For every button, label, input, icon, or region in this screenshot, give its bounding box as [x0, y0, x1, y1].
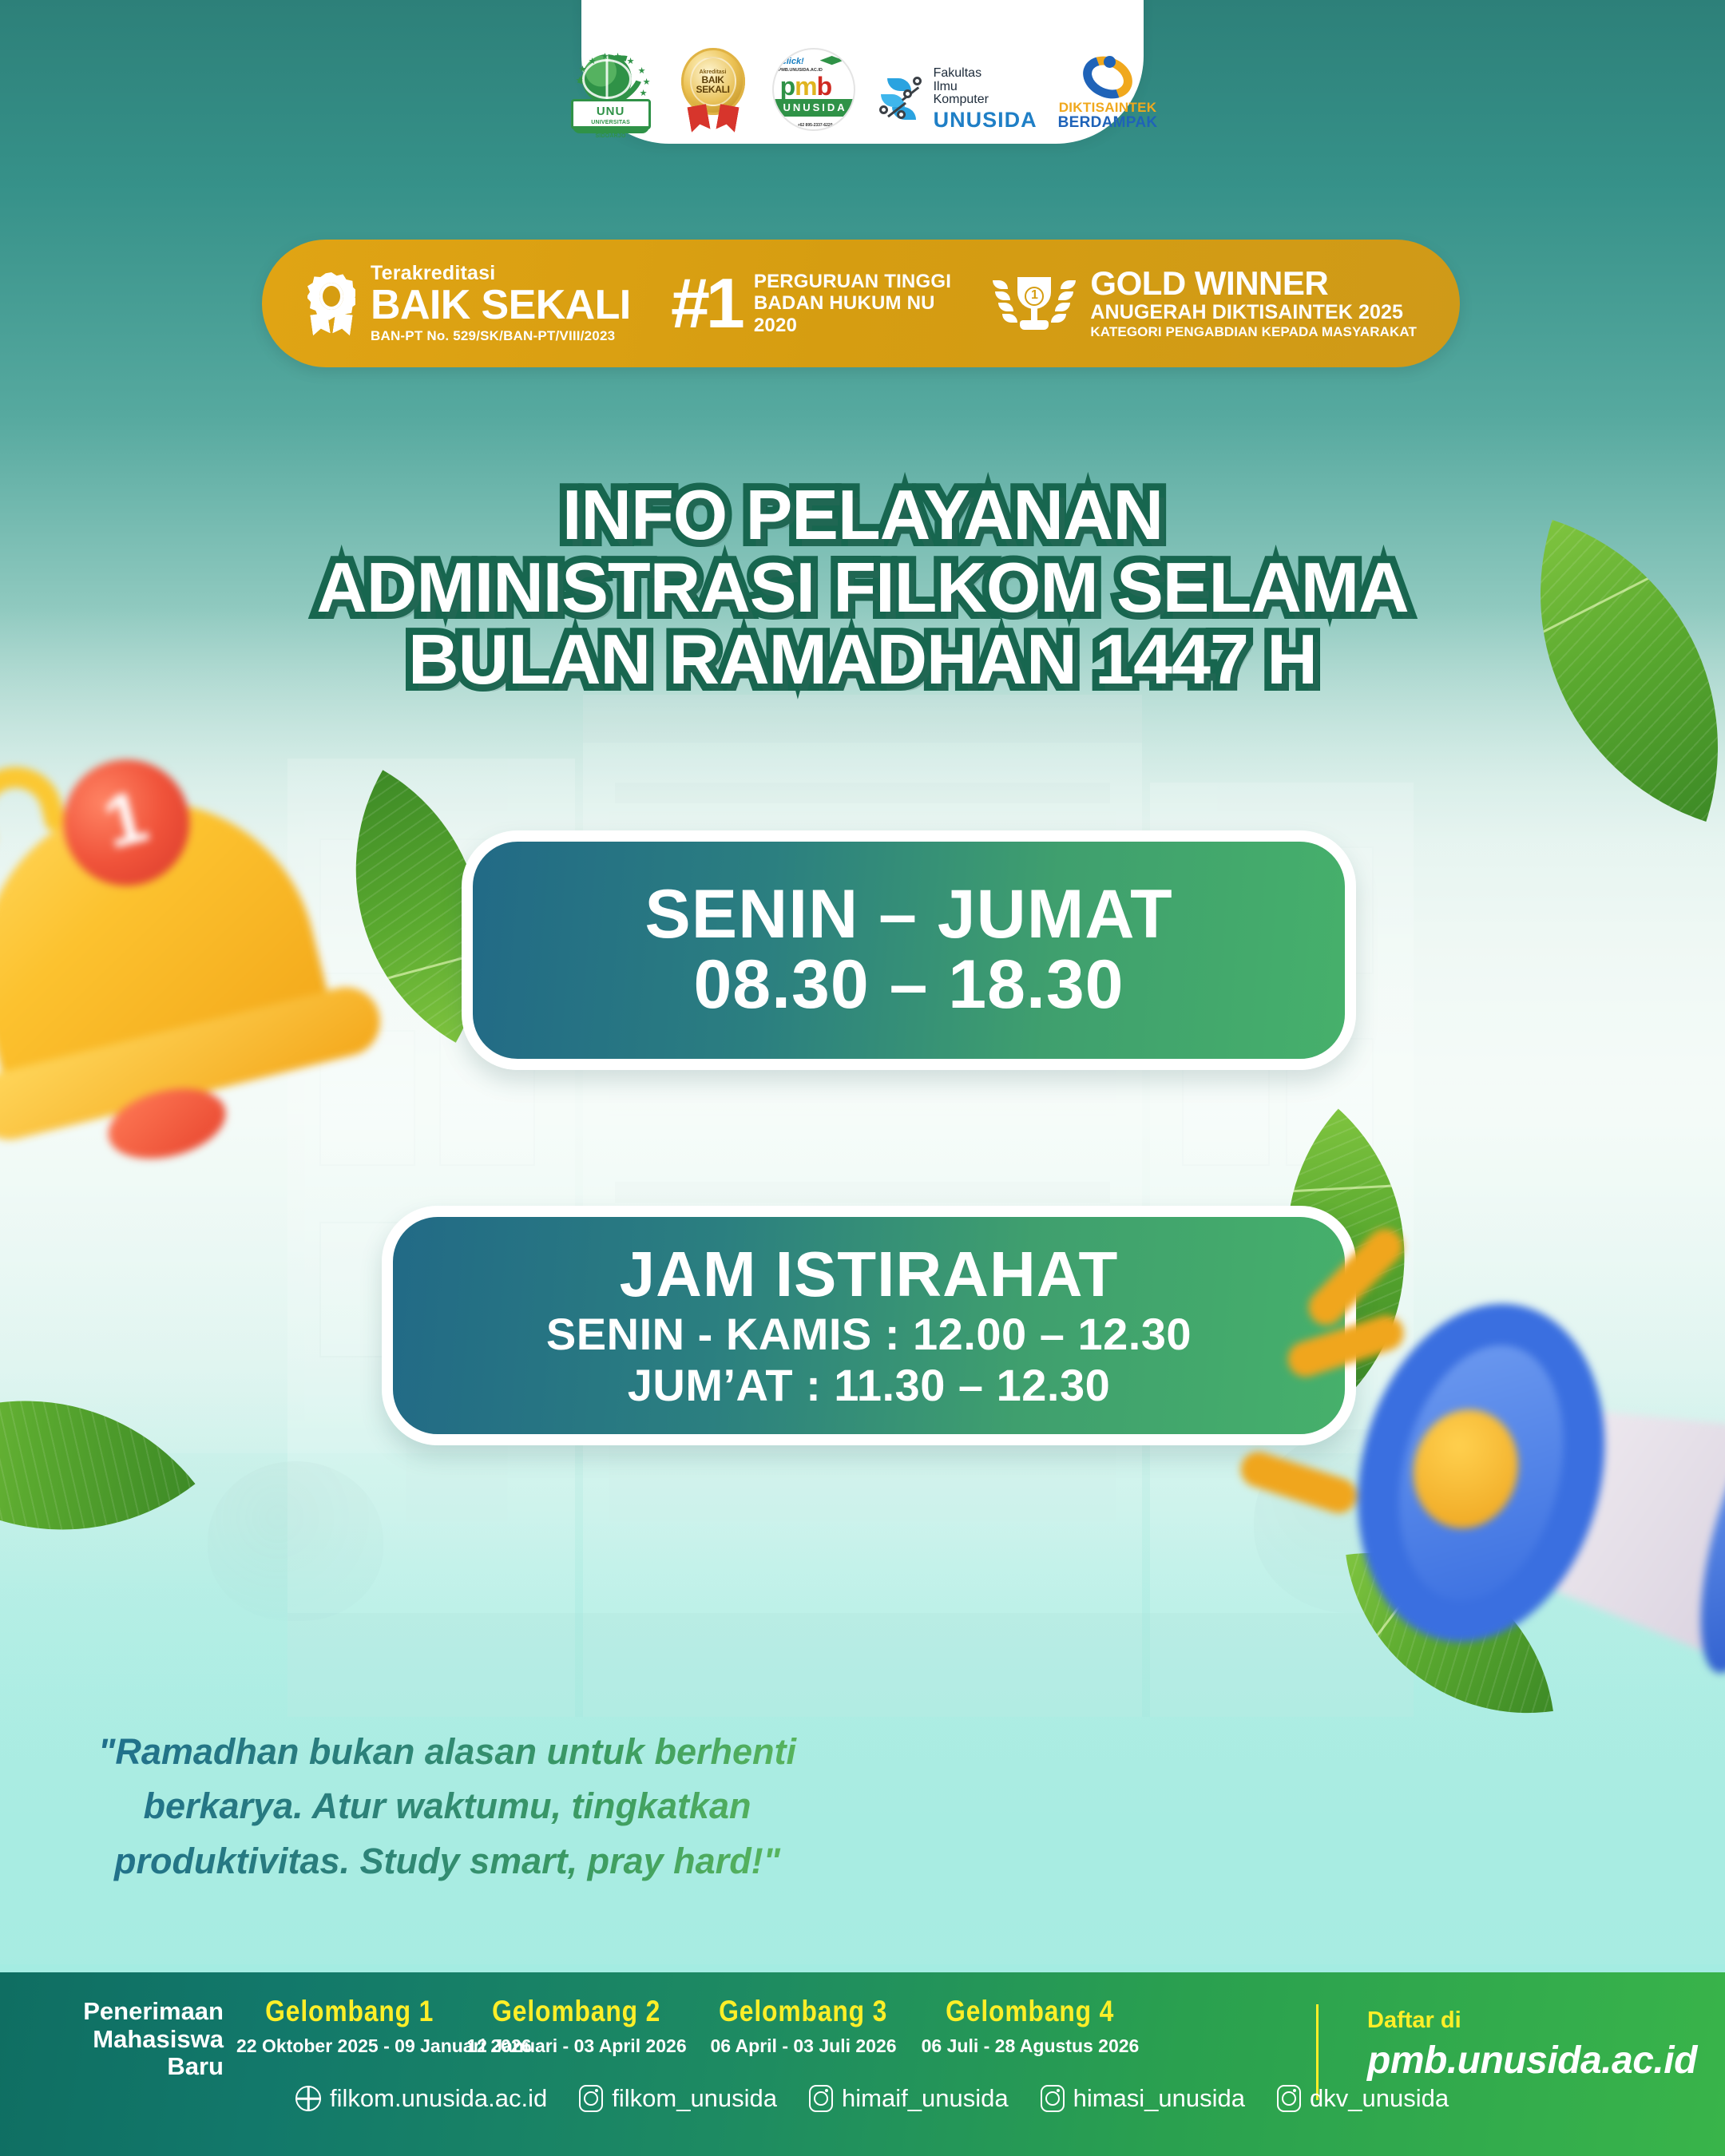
social-handle: filkom_unusida	[612, 2084, 777, 2113]
instagram-icon	[1041, 2085, 1065, 2112]
break-hours-line-1: SENIN - KAMIS : 12.00 – 12.30	[393, 1309, 1345, 1360]
logo-pmb: click! PMB.UNUSIDA.AC.ID pmb PENERIMAAN …	[772, 48, 855, 131]
accreditation-grade: BAIK SEKALI	[371, 284, 631, 326]
filkom-circuit-icon	[876, 75, 927, 123]
unu-city-name: SIDOARJO	[573, 133, 648, 141]
motivational-quote: "Ramadhan bukan alasan untuk berhenti be…	[88, 1725, 807, 1888]
headline-line-2: ADMINISTRASI FILKOM SELAMA	[0, 552, 1725, 624]
headline-line-1: INFO PELAYANAN	[0, 479, 1725, 552]
wave-item: Gelombang 2 12 Januari - 03 April 2026	[463, 1995, 690, 2057]
social-handle: himaif_unusida	[842, 2084, 1009, 2113]
page-title: INFO PELAYANAN ADMINISTRASI FILKOM SELAM…	[0, 479, 1725, 696]
trophy-icon	[991, 269, 1077, 338]
service-hours-card: SENIN – JUMAT 08.30 – 18.30	[462, 830, 1356, 1070]
accreditation-seal-icon	[305, 272, 358, 335]
leaf-decoration-lower-left	[0, 1314, 195, 1617]
registration-url[interactable]: pmb.unusida.ac.id	[1367, 2039, 1697, 2083]
instagram-icon	[1277, 2085, 1301, 2112]
break-hours-line-2: JUM’AT : 11.30 – 12.30	[393, 1360, 1345, 1411]
wave-dates: 22 Oktober 2025 - 09 Januari 2026	[236, 2035, 463, 2057]
wave-item: Gelombang 4 06 Juli - 28 Agustus 2026	[917, 1995, 1144, 2057]
registration-label: Daftar di	[1367, 2007, 1697, 2034]
notification-bell-icon: 1	[0, 665, 486, 1219]
footer-pmb-title: Penerimaan Mahasiswa Baru	[32, 1998, 224, 2081]
headline-line-3: BULAN RAMADHAN 1447 H	[0, 624, 1725, 696]
poster-canvas: ★★ ★★ ★★ ★★ ★ UNU UNIVERSITAS NAHDLATUL …	[0, 0, 1725, 2156]
rank-line-2: BADAN HUKUM NU	[754, 292, 951, 314]
filkom-line-2: Ilmu	[934, 81, 1037, 94]
logo-akreditasi-medal: Akreditasi BAIK SEKALI	[675, 48, 751, 131]
wave-dates: 06 Juli - 28 Agustus 2026	[917, 2035, 1144, 2057]
pmb-click-label: click!	[782, 57, 804, 66]
rank-number: #1	[671, 275, 741, 332]
graduation-cap-icon	[820, 56, 844, 67]
rank-year: 2020	[754, 315, 951, 336]
pmb-letter-p: p	[780, 72, 795, 101]
service-hours-time: 08.30 – 18.30	[473, 950, 1345, 1021]
social-links: filkom.unusida.ac.id filkom_unusida hima…	[295, 2084, 1449, 2113]
award-category: KATEGORI PENGABDIAN KEPADA MASYARAKAT	[1090, 324, 1417, 340]
footer-bar: Penerimaan Mahasiswa Baru Gelombang 1 22…	[0, 1972, 1725, 2156]
medal-ribbon-icon	[689, 105, 737, 131]
medal-grade-line1: BAIK	[702, 75, 724, 85]
award-segment: GOLD WINNER ANUGERAH DIKTISAINTEK 2025 K…	[991, 267, 1417, 341]
wave-item: Gelombang 1 22 Oktober 2025 - 09 Januari…	[236, 1995, 463, 2057]
pmb-wordmark: pmb	[780, 73, 832, 99]
unu-name-plate: UNU UNIVERSITAS NAHDLATUL ULAMA SIDOARJO	[571, 99, 651, 129]
social-link-dkv[interactable]: dkv_unusida	[1277, 2084, 1449, 2113]
leaf-decoration-lower-right	[1346, 1529, 1553, 1737]
diktisaintek-line-2: BERDAMPAK	[1058, 115, 1158, 131]
award-subtitle: ANUGERAH DIKTISAINTEK 2025	[1090, 302, 1417, 324]
diktisaintek-figure-icon	[1077, 54, 1138, 101]
filkom-line-3: Komputer	[934, 93, 1037, 107]
service-hours-days: SENIN – JUMAT	[473, 880, 1345, 950]
accreditation-banner: Terakreditasi BAIK SEKALI BAN-PT No. 529…	[262, 240, 1460, 367]
pmb-letter-b: b	[817, 72, 832, 101]
wave-title: Gelombang 3	[719, 1995, 887, 2028]
pmb-unusida-band: UNUSIDA	[774, 99, 855, 117]
instagram-icon	[579, 2085, 603, 2112]
wave-dates: 12 Januari - 03 April 2026	[463, 2035, 690, 2057]
pmb-phone-number: +62 895-2337-6220	[774, 123, 855, 128]
social-link-himaif[interactable]: himaif_unusida	[809, 2084, 1009, 2113]
award-title: GOLD WINNER	[1090, 267, 1417, 300]
social-link-website[interactable]: filkom.unusida.ac.id	[295, 2084, 547, 2113]
social-handle: himasi_unusida	[1073, 2084, 1245, 2113]
logo-filkom-unusida: Fakultas Ilmu Komputer UNUSIDA	[876, 67, 1037, 131]
rank-line-1: PERGURUAN TINGGI	[754, 271, 951, 292]
unu-mark-text: UNU	[573, 105, 648, 120]
social-handle: dkv_unusida	[1310, 2084, 1449, 2113]
social-link-filkom[interactable]: filkom_unusida	[579, 2084, 777, 2113]
globe-icon	[295, 2086, 321, 2111]
wave-title: Gelombang 2	[492, 1995, 660, 2028]
rank-segment: #1 PERGURUAN TINGGI BADAN HUKUM NU 2020	[671, 271, 951, 336]
unu-book-base-icon	[573, 126, 649, 133]
filkom-unusida-wordmark: UNUSIDA	[934, 109, 1037, 131]
instagram-icon	[809, 2085, 833, 2112]
break-hours-title: JAM ISTIRAHAT	[393, 1241, 1345, 1307]
wave-title: Gelombang 4	[946, 1995, 1114, 2028]
pmb-letter-m: m	[795, 72, 816, 101]
wave-title: Gelombang 1	[265, 1995, 434, 2028]
admission-waves: Gelombang 1 22 Oktober 2025 - 09 Januari…	[236, 1995, 1144, 2057]
accreditation-label: Terakreditasi	[371, 263, 631, 283]
logo-unu: ★★ ★★ ★★ ★★ ★ UNU UNIVERSITAS NAHDLATUL …	[568, 51, 654, 131]
bell-badge-count: 1	[50, 747, 204, 900]
filkom-line-1: Fakultas	[934, 67, 1037, 81]
social-link-himasi[interactable]: himasi_unusida	[1041, 2084, 1245, 2113]
medal-grade-line2: SEKALI	[696, 85, 729, 94]
social-handle: filkom.unusida.ac.id	[330, 2084, 547, 2113]
diktisaintek-line-1: DIKTISAINTEK	[1058, 101, 1158, 115]
registration-cta[interactable]: Daftar di pmb.unusida.ac.id	[1367, 2007, 1697, 2083]
accreditation-sk-number: BAN-PT No. 529/SK/BAN-PT/VIII/2023	[371, 328, 631, 344]
logo-plate: ★★ ★★ ★★ ★★ ★ UNU UNIVERSITAS NAHDLATUL …	[581, 0, 1144, 144]
logo-diktisaintek: DIKTISAINTEK BERDAMPAK	[1058, 54, 1158, 131]
wave-item: Gelombang 3 06 April - 03 Juli 2026	[690, 1995, 917, 2057]
accreditation-segment: Terakreditasi BAIK SEKALI BAN-PT No. 529…	[305, 263, 631, 344]
break-hours-card: JAM ISTIRAHAT SENIN - KAMIS : 12.00 – 12…	[382, 1206, 1356, 1445]
wave-dates: 06 April - 03 Juli 2026	[690, 2035, 917, 2057]
